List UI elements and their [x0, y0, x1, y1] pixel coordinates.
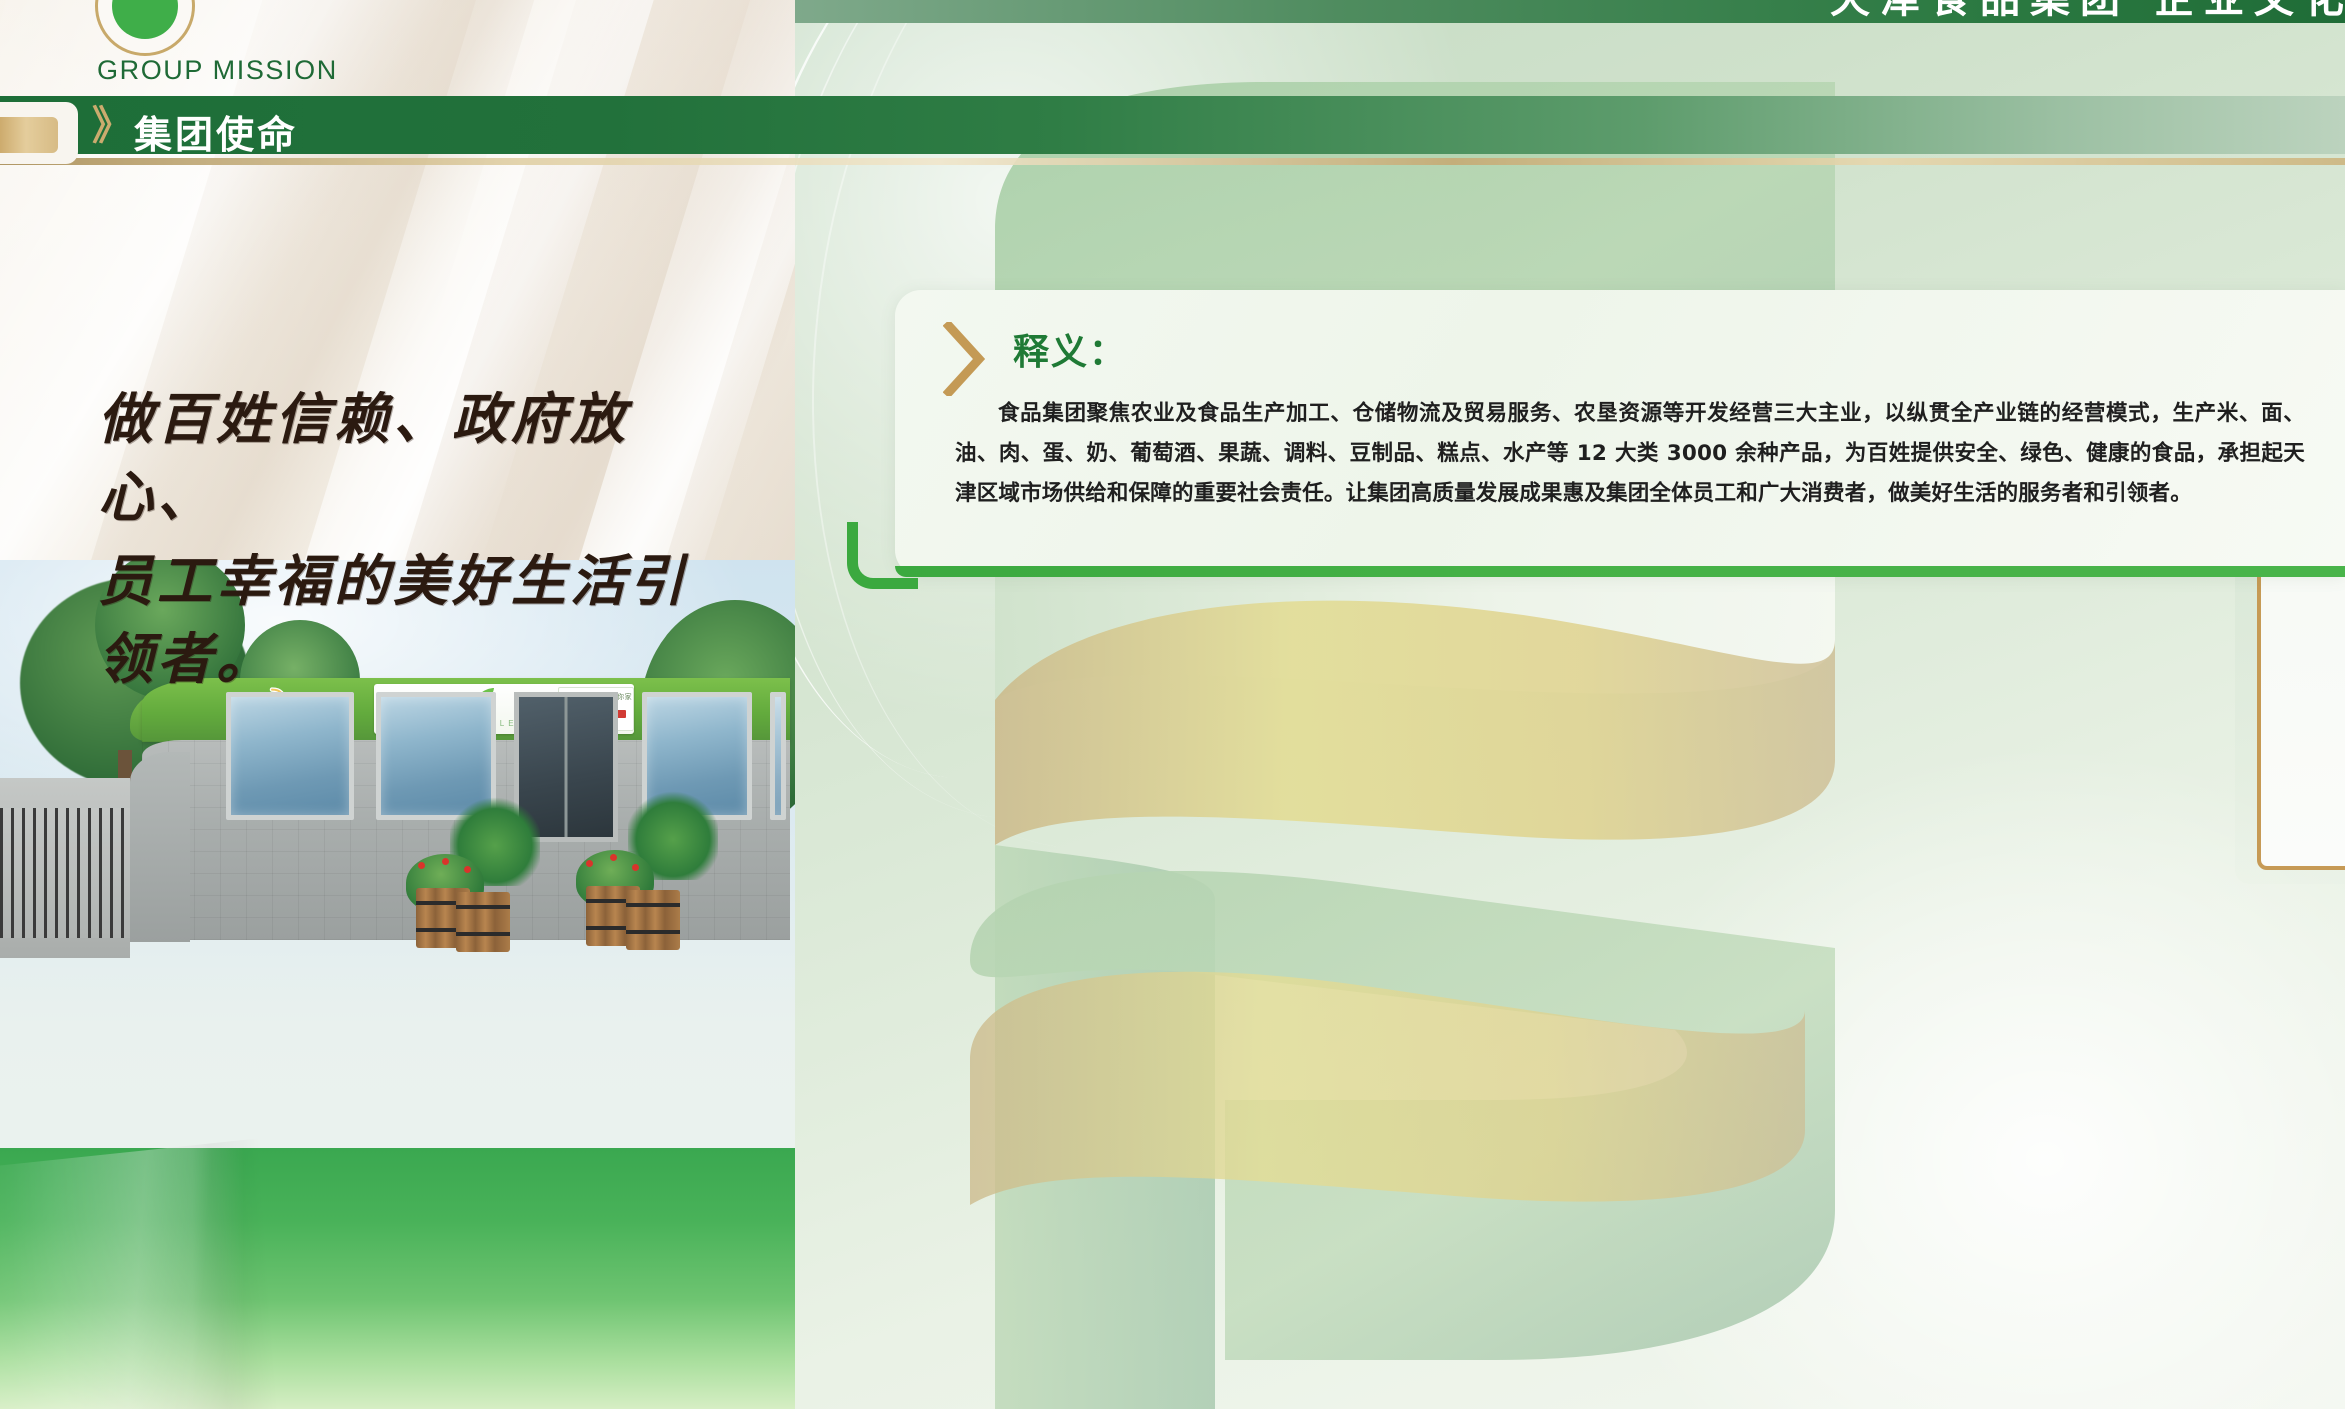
wooden-planter	[456, 892, 510, 952]
metal-gate	[0, 808, 130, 938]
top-header-strip: 天津食品集团 企业文化手册	[795, 0, 2345, 23]
chevron-right-icon	[943, 322, 985, 396]
lawn-foreground	[0, 1148, 795, 1409]
explanation-title: 释义：	[1013, 323, 1127, 375]
brand-emblem-icon	[95, 0, 195, 56]
explanation-card: 释义： 食品集团聚焦农业及食品生产加工、仓储物流及贸易服务、农垦资源等开发经营三…	[895, 290, 2345, 576]
section-title-gold-chip	[0, 117, 58, 153]
top-header-cut-text: 天津食品集团 企业文化手册	[1830, 0, 2345, 23]
left-page: 天津食品集团 TIANJIN FOOD GROUP 农鲜生活 FRESH LIF…	[0, 0, 795, 1409]
section-eyebrow-en: GROUP MISSION	[97, 55, 338, 86]
store-window	[226, 692, 354, 820]
right-page-haze-bottom	[1545, 709, 2345, 1409]
store-left-wall	[130, 752, 190, 942]
storefront: 天津食品集团 TIANJIN FOOD GROUP 农鲜生活 FRESH LIF…	[130, 678, 790, 1008]
mission-slogan-line-1: 做百姓信赖、政府放心、	[98, 380, 698, 536]
explanation-body: 食品集团聚焦农业及食品生产加工、仓储物流及贸易服务、农垦资源等开发经营三大主业，…	[955, 394, 2305, 514]
section-title-bar	[0, 96, 2345, 154]
wooden-planter	[626, 890, 680, 950]
mission-slogan: 做百姓信赖、政府放心、 员工幸福的美好生活引领者。	[98, 380, 698, 698]
store-window	[770, 692, 786, 820]
section-title-gold-underline	[0, 158, 2345, 165]
double-chevron-icon: 》	[92, 106, 132, 146]
right-page: 释义： 食品集团聚焦农业及食品生产加工、仓储物流及贸易服务、农垦资源等开发经营三…	[795, 0, 2345, 1409]
page-stage: 天津食品集团 TIANJIN FOOD GROUP 农鲜生活 FRESH LIF…	[0, 0, 2345, 1409]
explanation-card-accent-bar	[895, 566, 2345, 577]
section-title-cn: 集团使命	[134, 104, 298, 159]
mission-slogan-line-2: 员工幸福的美好生活引领者。	[98, 542, 698, 698]
